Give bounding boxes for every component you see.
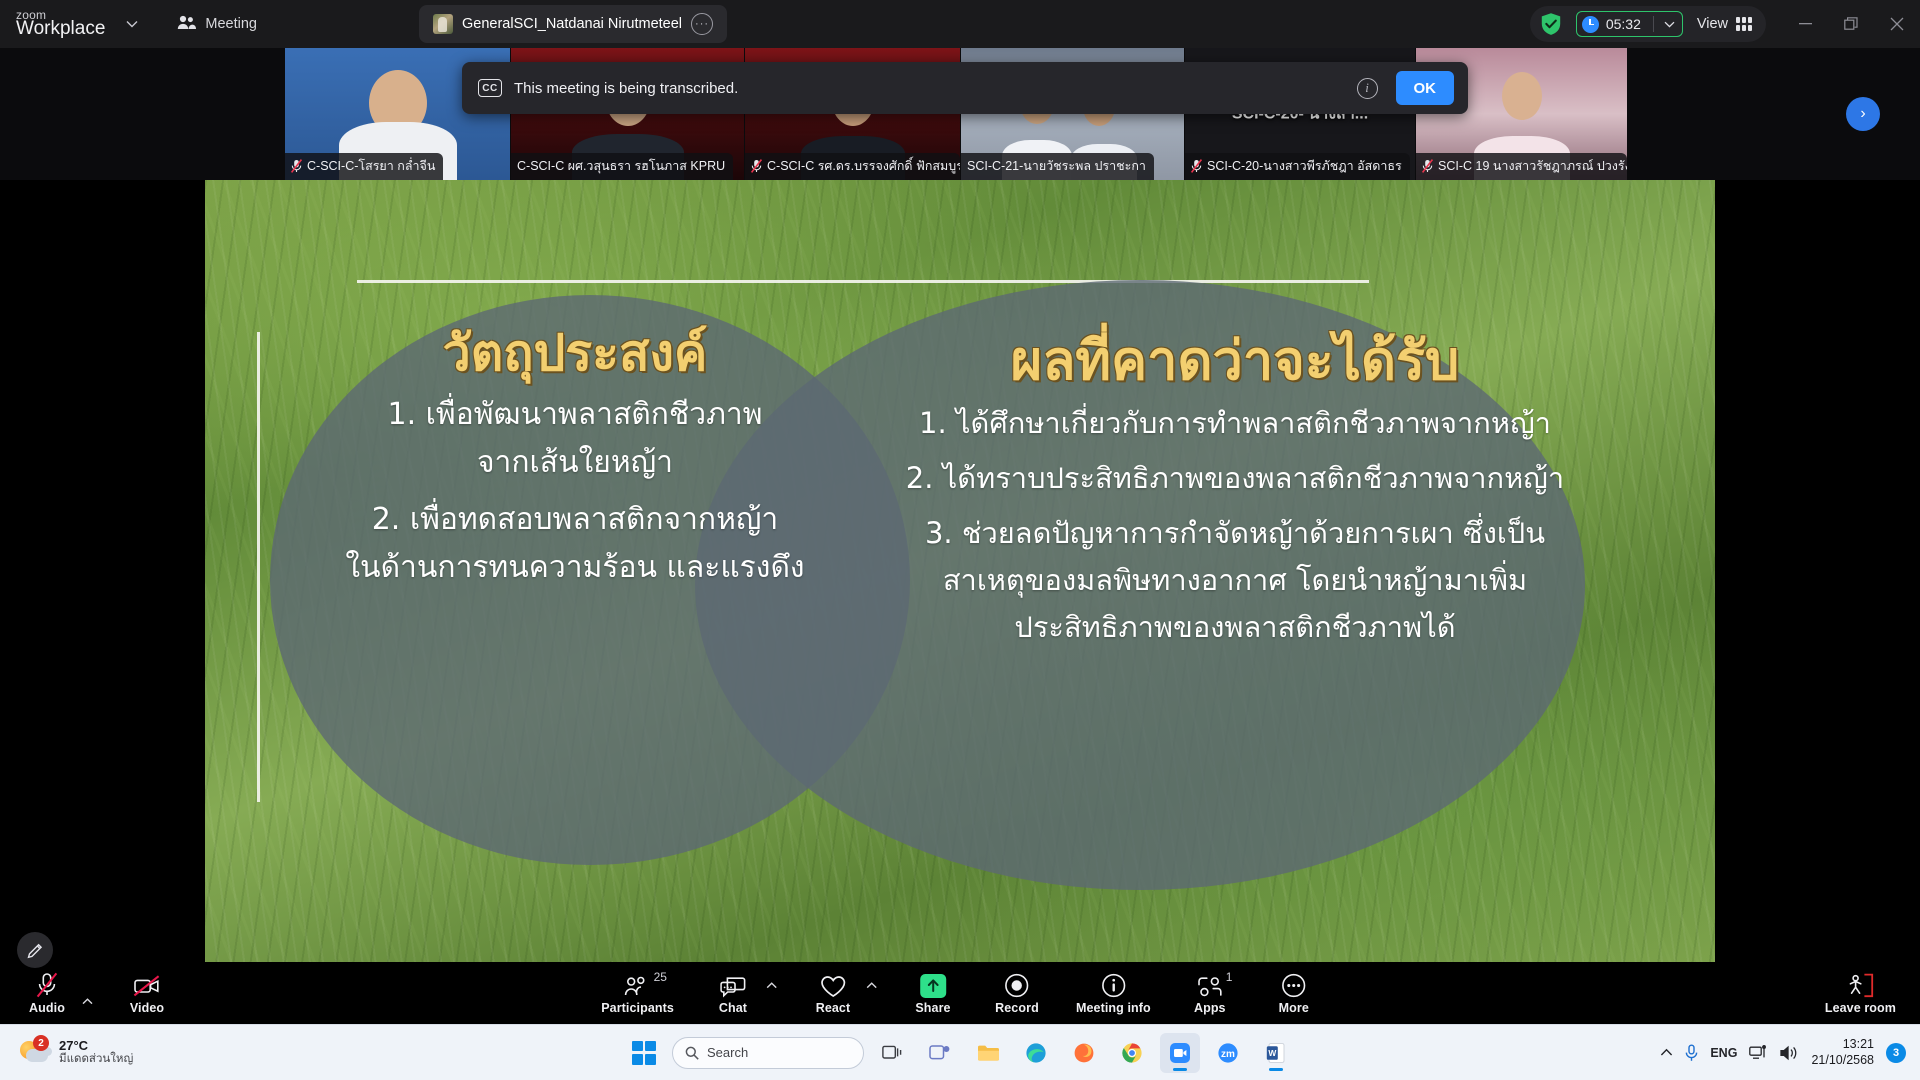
windows-logo-icon bbox=[632, 1041, 656, 1065]
language-indicator[interactable]: ENG bbox=[1710, 1046, 1737, 1060]
react-options-chevron-icon[interactable] bbox=[866, 980, 880, 1006]
record-button[interactable]: Record bbox=[986, 964, 1048, 1022]
meeting-timer-value: 05:32 bbox=[1606, 16, 1646, 32]
participant-name-badge: C-SCI-C รศ.ดร.บรรจงศักดิ์ ฟักสมบูรณ์ bbox=[745, 153, 960, 180]
taskbar-app-teams[interactable] bbox=[920, 1033, 960, 1073]
expected-results-heading: ผลที่คาดว่าจะได้รับ bbox=[865, 330, 1605, 392]
window-controls bbox=[1782, 0, 1920, 48]
video-button[interactable]: Video bbox=[116, 964, 178, 1022]
meeting-toolbar: Audio Video bbox=[0, 962, 1920, 1024]
participant-name: C-SCI-C-โสรยา กล่ำจีน bbox=[307, 156, 435, 176]
tab-thumbnail-icon bbox=[433, 14, 453, 34]
weather-temperature: 27°C bbox=[59, 1038, 133, 1054]
weather-description: มีแดดส่วนใหญ่ bbox=[59, 1053, 133, 1067]
microphone-tray-icon[interactable] bbox=[1685, 1044, 1698, 1062]
annotate-pen-button[interactable] bbox=[17, 932, 53, 968]
participant-name-badge: C-SCI-C-โสรยา กล่ำจีน bbox=[285, 153, 443, 180]
weather-sunny-cloud-icon: 2 bbox=[20, 1039, 50, 1065]
taskbar-app-file-explorer[interactable] bbox=[968, 1033, 1008, 1073]
react-button-label: React bbox=[816, 1001, 851, 1015]
mic-muted-icon bbox=[1191, 159, 1202, 173]
weather-text: 27°C มีแดดส่วนใหญ่ bbox=[59, 1038, 133, 1067]
expected-results-line: 1. ได้ศึกษาเกี่ยวกับการทำพลาสติกชีวภาพจา… bbox=[865, 400, 1605, 447]
mic-muted-icon bbox=[291, 159, 302, 173]
expected-results-line: 2. ได้ทราบประสิทธิภาพของพลาสติกชีวภาพจาก… bbox=[865, 455, 1605, 502]
leave-room-button-label: Leave room bbox=[1825, 1001, 1896, 1015]
task-view-button[interactable] bbox=[872, 1033, 912, 1073]
transcription-banner: CC This meeting is being transcribed. i … bbox=[462, 62, 1468, 114]
more-icon bbox=[1281, 972, 1306, 998]
taskbar-app-word[interactable]: W bbox=[1256, 1033, 1296, 1073]
title-bar: zoom Workplace Meeting GeneralSCI_Natdan… bbox=[0, 0, 1920, 48]
volume-icon[interactable] bbox=[1780, 1045, 1799, 1061]
minimize-button[interactable] bbox=[1782, 0, 1828, 48]
meeting-timer[interactable]: 05:32 bbox=[1576, 11, 1683, 37]
record-icon bbox=[1004, 972, 1029, 998]
encryption-shield-icon[interactable] bbox=[1540, 12, 1562, 36]
tab-shared-screen-label: GeneralSCI_Natdanai Nirutmeteel bbox=[462, 16, 682, 32]
view-button-label: View bbox=[1697, 16, 1728, 32]
audio-options-chevron-icon[interactable] bbox=[82, 996, 96, 1022]
toolbar-center-group: 25 Participants Chat bbox=[595, 964, 1325, 1022]
objectives-line: 1. เพื่อพัฒนาพลาสติกชีวภาพ bbox=[260, 391, 890, 440]
tray-expand-chevron-icon[interactable] bbox=[1660, 1048, 1673, 1057]
taskbar-app-zoom-workplace[interactable]: zm bbox=[1208, 1033, 1248, 1073]
zoom-blue-icon: zm bbox=[1217, 1042, 1239, 1064]
participant-name-badge: C-SCI-C ผศ.วสุนธรา รฮโนภาส KPRU bbox=[511, 153, 733, 180]
taskbar-system-tray: ENG 13:21 21/10/2568 3 bbox=[1660, 1037, 1906, 1068]
notification-badge[interactable]: 3 bbox=[1886, 1043, 1906, 1063]
apps-count: 1 bbox=[1226, 970, 1233, 984]
participant-name-badge: SCI-C-21-นายวัชระพล ปราชะกา bbox=[961, 153, 1154, 180]
participant-name: SCI-C 19 นางสาวรัชฎาภรณ์ ปวงรังษี bbox=[1438, 156, 1627, 176]
leave-door-icon bbox=[1846, 972, 1874, 998]
zoom-logo: zoom Workplace bbox=[16, 9, 105, 40]
firefox-icon bbox=[1073, 1042, 1095, 1064]
windows-taskbar: 2 27°C มีแดดส่วนใหญ่ Search bbox=[0, 1024, 1920, 1080]
chat-button-label: Chat bbox=[719, 1001, 747, 1015]
taskbar-clock[interactable]: 13:21 21/10/2568 bbox=[1811, 1037, 1874, 1068]
tab-meeting-label: Meeting bbox=[205, 16, 257, 32]
participant-name: SCI-C-20-นางสาวพีรภัชฎา อัสดาธร bbox=[1207, 156, 1402, 176]
toolbar-left-group: Audio Video bbox=[16, 964, 178, 1022]
slide-column-objectives: วัตถุประสงค์ 1. เพื่อพัฒนาพลาสติกชีวภาพ … bbox=[260, 325, 890, 593]
people-icon bbox=[177, 15, 196, 34]
taskbar-app-group: Search bbox=[624, 1033, 1296, 1073]
objectives-line: 2. เพื่อทดสอบพลาสติกจากหญ้า bbox=[260, 496, 890, 545]
objectives-line: ในด้านการทนความร้อน และแรงดึง bbox=[260, 544, 890, 593]
search-icon bbox=[685, 1046, 699, 1060]
taskbar-search-input[interactable]: Search bbox=[672, 1037, 864, 1069]
presentation-slide[interactable]: วัตถุประสงค์ 1. เพื่อพัฒนาพลาสติกชีวภาพ … bbox=[205, 180, 1715, 970]
view-button[interactable]: View bbox=[1697, 16, 1752, 32]
participant-name: SCI-C-21-นายวัชระพล ปราชะกา bbox=[967, 156, 1146, 176]
camera-muted-icon bbox=[133, 972, 161, 998]
chat-group: Chat bbox=[702, 964, 780, 1022]
participants-button[interactable]: 25 Participants bbox=[595, 964, 680, 1022]
objectives-line: จากเส้นใยหญ้า bbox=[260, 439, 890, 488]
restore-button[interactable] bbox=[1828, 0, 1874, 48]
network-icon[interactable] bbox=[1749, 1045, 1768, 1061]
meeting-status-pill: 05:32 View bbox=[1530, 6, 1766, 42]
chat-icon bbox=[720, 972, 746, 998]
apps-icon: 1 bbox=[1197, 972, 1223, 998]
heart-icon bbox=[820, 972, 846, 998]
chat-button[interactable]: Chat bbox=[702, 964, 764, 1022]
meeting-info-icon bbox=[1101, 972, 1126, 998]
workspace-chevron-down-icon[interactable] bbox=[119, 11, 145, 37]
start-button[interactable] bbox=[624, 1033, 664, 1073]
title-bar-right-controls: 05:32 View bbox=[1530, 0, 1920, 48]
participants-count: 25 bbox=[654, 970, 667, 984]
taskbar-date: 21/10/2568 bbox=[1811, 1053, 1874, 1069]
video-button-label: Video bbox=[130, 1001, 164, 1015]
edge-icon bbox=[1025, 1042, 1047, 1064]
microphone-muted-icon bbox=[35, 972, 59, 998]
tab-more-options-icon[interactable]: ··· bbox=[691, 13, 713, 35]
participant-name: C-SCI-C ผศ.วสุนธรา รฮโนภาส KPRU bbox=[517, 156, 725, 176]
tab-shared-screen[interactable]: GeneralSCI_Natdanai Nirutmeteel ··· bbox=[419, 5, 727, 43]
zoom-app-icon bbox=[1169, 1042, 1191, 1064]
share-screen-icon bbox=[920, 972, 946, 998]
expected-results-line: 3. ช่วยลดปัญหาการกำจัดหญ้าด้วยการเผา ซึ่… bbox=[865, 510, 1605, 557]
filmstrip-next-button[interactable]: › bbox=[1846, 97, 1880, 131]
mic-muted-icon bbox=[1422, 159, 1433, 173]
word-icon: W bbox=[1266, 1042, 1286, 1064]
react-group: React bbox=[802, 964, 880, 1022]
shared-screen-stage: วัตถุประสงค์ 1. เพื่อพัฒนาพลาสติกชีวภาพ … bbox=[0, 180, 1920, 980]
taskbar-app-firefox[interactable] bbox=[1064, 1033, 1104, 1073]
teams-icon bbox=[929, 1043, 951, 1063]
slide-top-rule bbox=[357, 280, 1369, 283]
toolbar-right-group: Leave room bbox=[1819, 964, 1902, 1022]
more-options-button-label: More bbox=[1279, 1001, 1309, 1015]
info-icon[interactable]: i bbox=[1357, 78, 1378, 99]
apps-button[interactable]: 1 Apps bbox=[1179, 964, 1241, 1022]
timer-chevron-down-icon[interactable] bbox=[1661, 15, 1678, 33]
weather-widget[interactable]: 2 27°C มีแดดส่วนใหญ่ bbox=[20, 1038, 133, 1067]
zoom-logo-bottom: Workplace bbox=[16, 19, 105, 39]
more-options-button[interactable]: More bbox=[1263, 964, 1325, 1022]
share-screen-button-label: Share bbox=[915, 1001, 950, 1015]
mic-muted-icon bbox=[751, 159, 762, 173]
svg-text:W: W bbox=[1268, 1048, 1276, 1058]
expected-results-line: ประสิทธิภาพของพลาสติกชีวภาพได้ bbox=[865, 604, 1605, 651]
weather-badge-count: 2 bbox=[33, 1035, 49, 1051]
closed-caption-icon: CC bbox=[478, 79, 502, 97]
taskbar-app-zoom-active[interactable] bbox=[1160, 1033, 1200, 1073]
objectives-heading: วัตถุประสงค์ bbox=[260, 325, 890, 383]
clock-icon bbox=[1582, 16, 1599, 33]
close-button[interactable] bbox=[1874, 0, 1920, 48]
tab-meeting[interactable]: Meeting bbox=[163, 5, 271, 43]
apps-button-label: Apps bbox=[1194, 1001, 1226, 1015]
participants-icon: 25 bbox=[625, 972, 651, 998]
participant-name: C-SCI-C รศ.ดร.บรรจงศักดิ์ ฟักสมบูรณ์ bbox=[767, 156, 960, 176]
slide-column-expected-results: ผลที่คาดว่าจะได้รับ 1. ได้ศึกษาเกี่ยวกับ… bbox=[865, 330, 1605, 651]
zoom-meeting-window: zoom Workplace Meeting GeneralSCI_Natdan… bbox=[0, 0, 1920, 1080]
task-view-icon bbox=[882, 1044, 902, 1061]
banner-ok-button[interactable]: OK bbox=[1396, 71, 1455, 105]
react-button[interactable]: React bbox=[802, 964, 864, 1022]
chat-options-chevron-icon[interactable] bbox=[766, 980, 780, 1006]
participants-button-label: Participants bbox=[601, 1001, 674, 1015]
transcription-message: This meeting is being transcribed. bbox=[514, 80, 738, 97]
expected-results-line: สาเหตุของมลพิษทางอากาศ โดยนำหญ้ามาเพิ่ม bbox=[865, 557, 1605, 604]
taskbar-app-edge[interactable] bbox=[1016, 1033, 1056, 1073]
participant-name-badge: SCI-C 19 นางสาวรัชฎาภรณ์ ปวงรังษี bbox=[1416, 153, 1627, 180]
chrome-icon bbox=[1121, 1042, 1143, 1064]
leave-room-button[interactable]: Leave room bbox=[1819, 964, 1902, 1022]
share-screen-button[interactable]: Share bbox=[902, 964, 964, 1022]
meeting-info-button-label: Meeting info bbox=[1076, 1001, 1151, 1015]
audio-button-label: Audio bbox=[29, 1001, 65, 1015]
taskbar-time: 13:21 bbox=[1811, 1037, 1874, 1053]
folder-icon bbox=[977, 1043, 1000, 1062]
meeting-info-button[interactable]: Meeting info bbox=[1070, 964, 1157, 1022]
timer-divider bbox=[1653, 16, 1654, 32]
audio-button[interactable]: Audio bbox=[16, 964, 78, 1022]
taskbar-app-chrome[interactable] bbox=[1112, 1033, 1152, 1073]
taskbar-search-placeholder: Search bbox=[707, 1045, 748, 1060]
record-button-label: Record bbox=[995, 1001, 1039, 1015]
participant-name-badge: SCI-C-20-นางสาวพีรภัชฎา อัสดาธร bbox=[1185, 153, 1410, 180]
view-grid-icon bbox=[1736, 17, 1752, 31]
svg-text:zm: zm bbox=[1221, 1049, 1235, 1060]
